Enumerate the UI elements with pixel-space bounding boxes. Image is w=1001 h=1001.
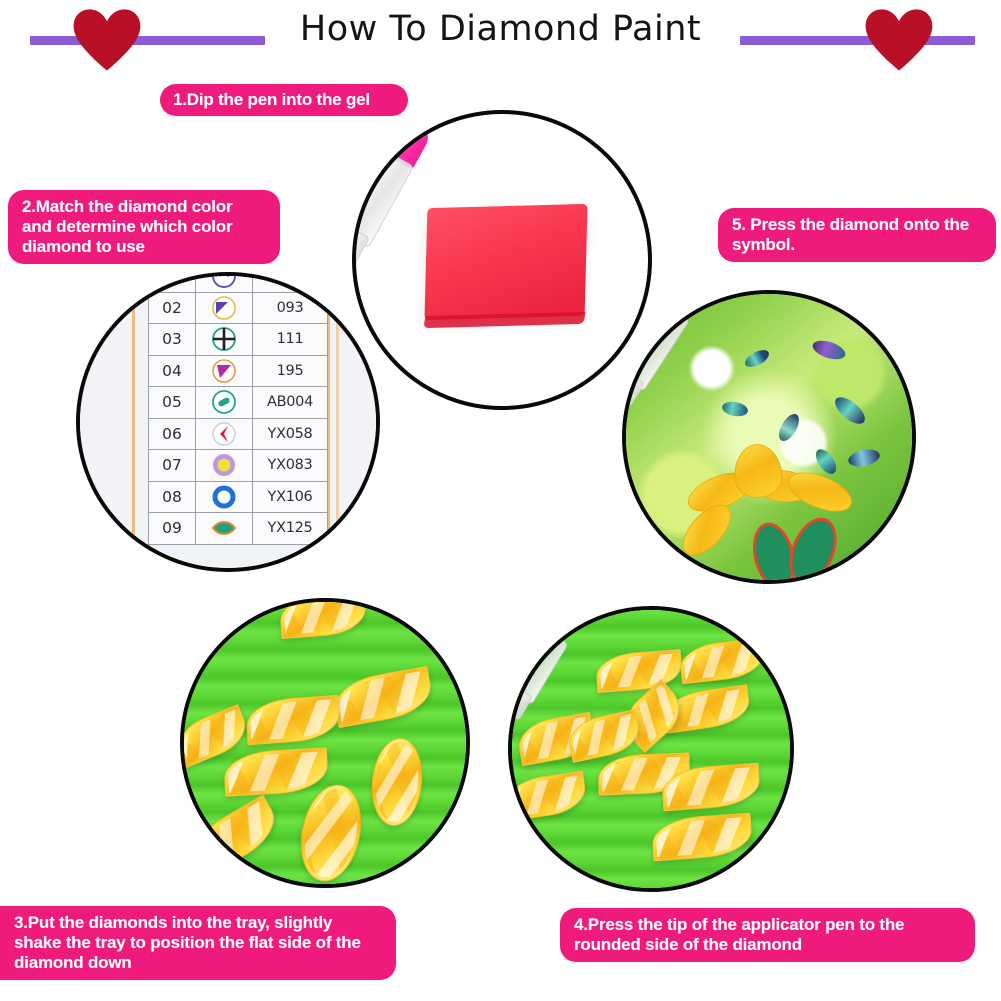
chart-row-code: YX106	[253, 481, 328, 513]
chart-row-code: YX125	[253, 513, 328, 545]
chart-row-no: 04	[149, 355, 196, 387]
chart-row-no: 09	[149, 513, 196, 545]
plus-cross-icon	[196, 324, 253, 356]
ring-icon	[196, 481, 253, 513]
leaf-icon	[196, 513, 253, 545]
photo-press-pen-to-diamond	[508, 606, 794, 892]
color-chart-table: 01 028 02 093 03 111 04	[148, 272, 328, 545]
arrow-left-icon	[196, 418, 253, 450]
table-row: 04 195	[149, 355, 328, 387]
capsule-icon	[196, 387, 253, 419]
table-row: 08 YX106	[149, 481, 328, 513]
table-row: 07 YX083	[149, 450, 328, 482]
table-row: 01 028	[149, 272, 328, 292]
chart-row-no: 02	[149, 292, 196, 324]
chart-margin-line	[336, 276, 339, 568]
header-banner: How To Diamond Paint	[0, 0, 1001, 78]
photo-color-chart: 01 028 02 093 03 111 04	[76, 272, 380, 572]
chart-row-no: 08	[149, 481, 196, 513]
chart-row-code: AB004	[253, 387, 328, 419]
chart-row-no: 03	[149, 324, 196, 356]
step-4-label: 4.Press the tip of the applicator pen to…	[560, 908, 975, 962]
chart-row-no: 05	[149, 387, 196, 419]
chart-row-code: 093	[253, 292, 328, 324]
photo-dip-pen-into-gel	[352, 110, 652, 410]
table-row: 05 AB004	[149, 387, 328, 419]
step-2-label: 2.Match the diamond color and determine …	[8, 190, 280, 264]
table-row: 03 111	[149, 324, 328, 356]
step-5-label: 5. Press the diamond onto the symbol.	[718, 208, 996, 262]
chart-row-no: 01	[149, 272, 196, 292]
circle-dots-icon	[196, 272, 253, 292]
table-row: 06 YX058	[149, 418, 328, 450]
chart-row-no: 06	[149, 418, 196, 450]
chart-row-code: 111	[253, 324, 328, 356]
table-row: 09 YX125	[149, 513, 328, 545]
chart-row-no: 07	[149, 450, 196, 482]
chart-row-code: 028	[253, 272, 328, 292]
chart-row-code: 195	[253, 355, 328, 387]
chart-row-code: YX083	[253, 450, 328, 482]
chart-margin-line	[132, 276, 135, 568]
photo-diamonds-in-tray	[180, 598, 470, 888]
photo-press-diamond-onto-symbol	[622, 290, 916, 584]
gel-pad	[424, 204, 587, 320]
chart-row-code: YX058	[253, 418, 328, 450]
quarter-pie-icon	[196, 355, 253, 387]
step-1-label: 1.Dip the pen into the gel	[160, 84, 408, 116]
filled-dot-icon	[196, 450, 253, 482]
table-row: 02 093	[149, 292, 328, 324]
step-3-label: 3.Put the diamonds into the tray, slight…	[0, 906, 396, 980]
page-title: How To Diamond Paint	[0, 9, 1001, 49]
triangle-corner-icon	[196, 292, 253, 324]
